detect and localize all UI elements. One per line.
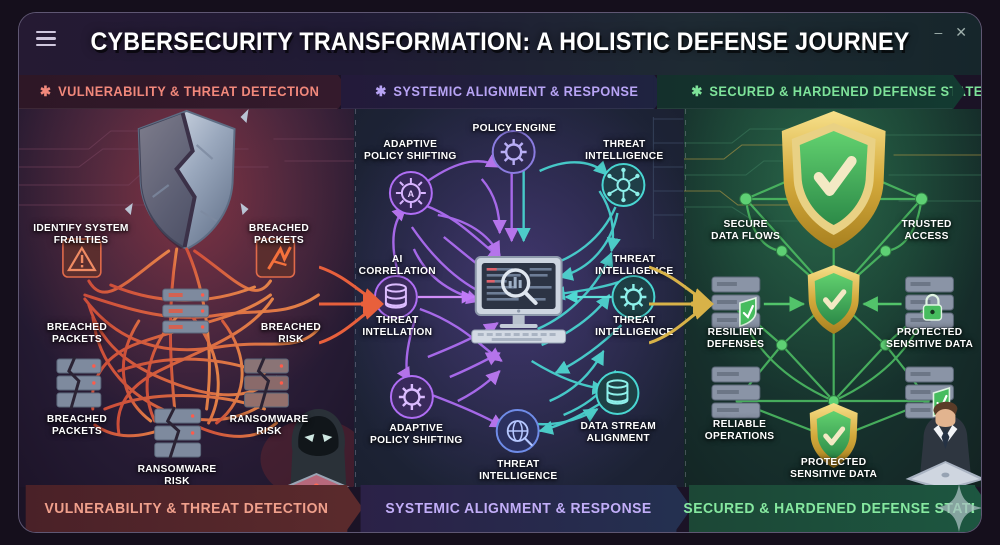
window-controls: – ✕ (934, 25, 967, 39)
globe-network-icon (497, 410, 539, 452)
broken-packet-icon (257, 239, 295, 277)
journey-diagram: IDENTIFY SYSTEM FRAILTIES BREACHED PACKE… (19, 109, 981, 487)
server-stack-icon (712, 367, 760, 418)
minimize-icon[interactable]: – (934, 25, 942, 39)
page-title: CYBERSECURITY TRANSFORMATION: A HOLISTIC… (53, 28, 948, 57)
gear-icon (493, 131, 535, 173)
stage-chip-label: SYSTEMIC ALIGNMENT & RESPONSE (393, 84, 638, 99)
stage-chip-alignment[interactable]: ✱ SYSTEMIC ALIGNMENT & RESPONSE (341, 73, 655, 109)
database-icon (597, 372, 639, 414)
footer-stage-vulnerability[interactable]: VULNERABILITY & THREAT DETECTION (26, 485, 348, 532)
stage-transition-arrow-2 (649, 259, 729, 349)
stage-chip-vulnerability[interactable]: ✱ VULNERABILITY & THREAT DETECTION (19, 73, 338, 109)
title-bar: CYBERSECURITY TRANSFORMATION: A HOLISTIC… (19, 13, 981, 75)
cracked-server-icon (245, 357, 289, 409)
sparkle-icon (933, 482, 982, 533)
gear-icon (391, 376, 433, 418)
app-window: CYBERSECURITY TRANSFORMATION: A HOLISTIC… (18, 12, 982, 533)
panel-vulnerability: IDENTIFY SYSTEM FRAILTIES BREACHED PACKE… (19, 109, 354, 487)
footer-stage-alignment[interactable]: SYSTEMIC ALIGNMENT & RESPONSE (361, 485, 677, 532)
asterisk-icon: ✱ (375, 83, 387, 100)
gear-ai-icon: A (390, 172, 432, 214)
footer-stage-bar: VULNERABILITY & THREAT DETECTION SYSTEMI… (19, 485, 981, 532)
close-icon[interactable]: ✕ (955, 25, 967, 39)
monitor-magnifier-icon (472, 257, 566, 343)
stage-chip-label: SECURED & HARDENED DEFENSE STATE (709, 84, 982, 99)
panel-alignment: A (354, 109, 683, 487)
server-stack-icon (163, 289, 209, 333)
stage-chip-label: VULNERABILITY & THREAT DETECTION (58, 84, 319, 99)
server-lock-icon (905, 277, 953, 328)
cracked-server-icon (155, 407, 201, 459)
cracked-server-icon (57, 357, 101, 409)
network-hub-icon (603, 164, 645, 206)
svg-text:A: A (408, 189, 415, 199)
panel-vulnerability-graphics (19, 109, 354, 487)
asterisk-icon: ✱ (691, 83, 703, 100)
stage-chip-bar: ✱ VULNERABILITY & THREAT DETECTION ✱ SYS… (19, 73, 981, 109)
stage-transition-arrow-1 (319, 259, 399, 349)
warning-triangle-icon (63, 239, 101, 277)
stage-chip-secured[interactable]: ✱ SECURED & HARDENED DEFENSE STATE (657, 73, 953, 109)
panel-alignment-graphics: A (354, 109, 683, 487)
asterisk-icon: ✱ (40, 83, 52, 100)
